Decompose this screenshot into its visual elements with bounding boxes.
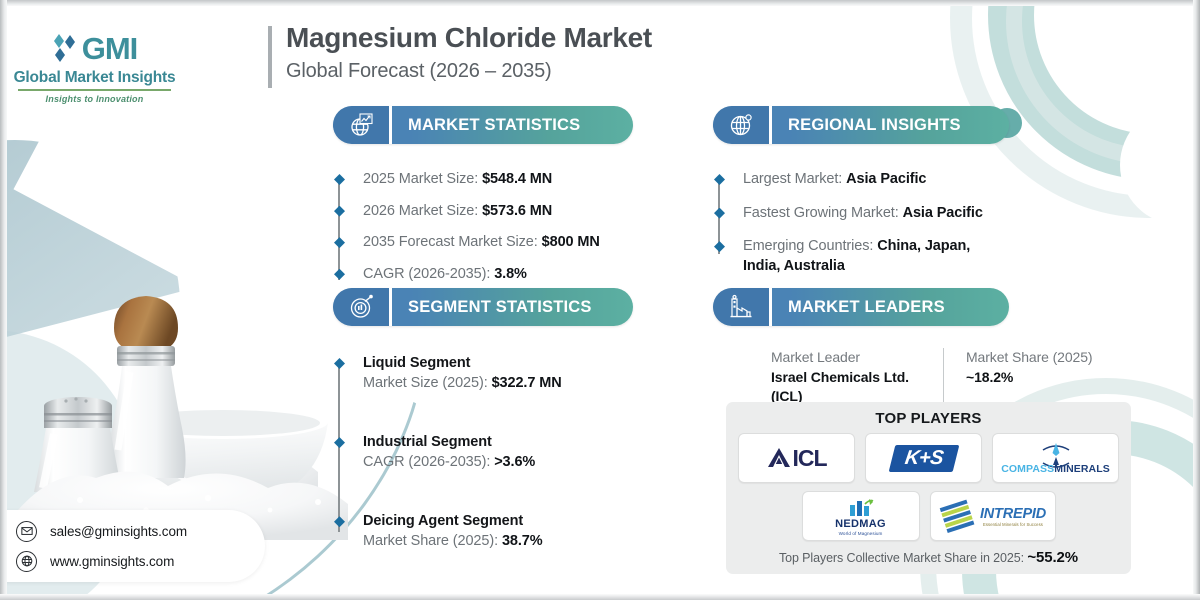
- bullet-diamond: [334, 516, 345, 527]
- logo-company-name: Global Market Insights: [12, 69, 177, 87]
- item-label: Market Size (2025):: [363, 375, 492, 391]
- segment-statistics-header: SEGMENT STATISTICS: [333, 288, 633, 326]
- frame-edge-bottom: [0, 594, 1200, 600]
- frame-edge-left: [0, 0, 7, 600]
- segment-detail-0: Market Size (2025): $322.7 MN: [363, 374, 633, 394]
- contact-email: sales@gminsights.com: [50, 524, 187, 539]
- list-item: Industrial Segment CAGR (2026-2035): >3.…: [363, 433, 633, 472]
- list-connector-line: [338, 176, 340, 280]
- bullet-diamond: [334, 437, 345, 448]
- compass-minerals-wordmark: COMPASSMINERALS: [1001, 459, 1110, 477]
- globe-icon: [16, 551, 37, 572]
- regional-item-2: Emerging Countries: China, Japan, India,…: [743, 237, 1009, 276]
- page-subtitle: Global Forecast (2026 – 2035): [286, 60, 652, 83]
- list-item: Liquid Segment Market Size (2025): $322.…: [363, 354, 633, 393]
- section-market-statistics: MARKET STATISTICS 2025 Market Size: $548…: [333, 106, 633, 296]
- logo-box-nedmag[interactable]: NEDMAG World of Magnesium: [802, 491, 920, 541]
- item-value: $800 MN: [542, 234, 600, 250]
- regional-item-0: Largest Market: Asia Pacific: [743, 170, 1009, 190]
- market-leader-col: Market Leader Israel Chemicals Ltd. (ICL…: [771, 348, 921, 407]
- globe-chart-icon: [333, 106, 389, 144]
- gmi-diamond-icon: [52, 32, 80, 64]
- list-item: Deicing Agent Segment Market Share (2025…: [363, 512, 633, 551]
- top-players-footer-value: ~55.2%: [1027, 549, 1078, 566]
- bullet-diamond: [334, 358, 345, 369]
- section-segment-statistics: SEGMENT STATISTICS Liquid Segment Market…: [333, 288, 633, 591]
- nedmag-mark-icon: [846, 497, 876, 517]
- frame-edge-top: [0, 0, 1200, 6]
- title-accent-bar: [268, 26, 272, 88]
- top-players-footer: Top Players Collective Market Share in 2…: [738, 549, 1119, 566]
- top-players-card: TOP PLAYERS ICL K+S: [726, 402, 1131, 574]
- item-value: 3.8%: [494, 266, 527, 282]
- list-item: Largest Market: Asia Pacific: [743, 170, 1009, 190]
- icl-logo-text: ICL: [792, 445, 826, 472]
- contact-panel: sales@gminsights.com www.gminsights.com: [0, 510, 265, 582]
- bullet-diamond: [334, 237, 345, 248]
- page-title-block: Magnesium Chloride Market Global Forecas…: [268, 22, 652, 83]
- logo-gmi-text: GMI: [82, 33, 138, 64]
- gmi-logo: GMI Global Market Insights Insights to I…: [12, 32, 177, 104]
- logo-underline: [18, 89, 171, 91]
- bullet-diamond: [714, 208, 725, 219]
- market-statistics-item-3: CAGR (2026-2035): 3.8%: [363, 265, 633, 285]
- logo-mark-row: GMI: [12, 32, 177, 64]
- envelope-icon: [16, 521, 37, 542]
- list-item: 2025 Market Size: $548.4 MN: [363, 170, 633, 190]
- list-item: 2026 Market Size: $573.6 MN: [363, 202, 633, 222]
- top-players-row-1: ICL K+S COMPASSMINERALS: [738, 433, 1119, 483]
- minerals-word: MINERALS: [1054, 463, 1110, 475]
- market-statistics-item-2: 2035 Forecast Market Size: $800 MN: [363, 233, 633, 253]
- regional-insights-label: REGIONAL INSIGHTS: [772, 116, 961, 135]
- regional-item-1: Fastest Growing Market: Asia Pacific: [743, 204, 1009, 224]
- globe-pin-icon: [713, 106, 769, 144]
- intrepid-mark-icon: [939, 499, 977, 533]
- infographic-canvas: GMI Global Market Insights Insights to I…: [0, 0, 1200, 600]
- list-item: Fastest Growing Market: Asia Pacific: [743, 204, 1009, 224]
- target-chart-icon: [333, 288, 389, 326]
- factory-icon: [713, 288, 769, 326]
- item-value: >3.6%: [494, 454, 535, 470]
- item-value: $548.4 MN: [482, 171, 552, 187]
- bullet-diamond: [334, 269, 345, 280]
- segment-detail-2: Market Share (2025): 38.7%: [363, 532, 633, 552]
- item-value: Asia Pacific: [903, 205, 983, 221]
- ks-logo-text: K+S: [903, 447, 944, 470]
- market-leaders-header: MARKET LEADERS: [713, 288, 1009, 326]
- regional-insights-header: REGIONAL INSIGHTS: [713, 106, 1009, 144]
- logo-tagline: Insights to Innovation: [12, 94, 177, 104]
- intrepid-logo-subtext: Essential Minerals for Success: [983, 522, 1043, 527]
- market-leader-details: Market Leader Israel Chemicals Ltd. (ICL…: [713, 348, 1009, 407]
- item-label: Fastest Growing Market:: [743, 205, 903, 221]
- segment-head-0: Liquid Segment: [363, 354, 633, 374]
- item-value: $573.6 MN: [482, 203, 552, 219]
- top-players-row-2: NEDMAG World of Magnesium INTREPID Essen…: [738, 491, 1119, 541]
- market-leader-label: Market Leader: [771, 348, 921, 368]
- market-leader-value: Israel Chemicals Ltd. (ICL): [771, 368, 921, 407]
- item-value: Asia Pacific: [846, 171, 926, 187]
- market-share-value: ~18.2%: [966, 368, 1093, 388]
- market-share-label: Market Share (2025): [966, 348, 1093, 368]
- contact-email-row[interactable]: sales@gminsights.com: [16, 521, 265, 542]
- logo-box-compass-minerals[interactable]: COMPASSMINERALS: [992, 433, 1119, 483]
- market-statistics-item-0: 2025 Market Size: $548.4 MN: [363, 170, 633, 190]
- list-item: Emerging Countries: China, Japan, India,…: [743, 237, 1009, 276]
- section-regional-insights: REGIONAL INSIGHTS Largest Market: Asia P…: [713, 106, 1009, 290]
- market-leaders-label: MARKET LEADERS: [772, 298, 945, 317]
- frame-edge-right: [1193, 0, 1200, 600]
- top-players-footer-label: Top Players Collective Market Share in 2…: [779, 551, 1027, 565]
- market-statistics-header: MARKET STATISTICS: [333, 106, 633, 144]
- logo-box-intrepid[interactable]: INTREPID Essential Minerals for Success: [930, 491, 1056, 541]
- regional-insights-list: Largest Market: Asia Pacific Fastest Gro…: [713, 170, 1009, 276]
- item-label: Largest Market:: [743, 171, 846, 187]
- item-value: 38.7%: [502, 533, 543, 549]
- nedmag-logo-subtext: World of Magnesium: [839, 531, 883, 536]
- segment-head-2: Deicing Agent Segment: [363, 512, 633, 532]
- page-title: Magnesium Chloride Market: [286, 22, 652, 54]
- market-statistics-label: MARKET STATISTICS: [392, 116, 580, 135]
- bullet-diamond: [334, 206, 345, 217]
- compass-word: COMPASS: [1001, 463, 1054, 475]
- item-label: CAGR (2026-2035):: [363, 266, 494, 282]
- segment-detail-1: CAGR (2026-2035): >3.6%: [363, 453, 633, 473]
- contact-website: www.gminsights.com: [50, 554, 174, 569]
- market-share-col: Market Share (2025) ~18.2%: [943, 348, 1093, 407]
- segment-head-1: Industrial Segment: [363, 433, 633, 453]
- item-label: 2025 Market Size:: [363, 171, 482, 187]
- bullet-diamond: [334, 174, 345, 185]
- list-item: 2035 Forecast Market Size: $800 MN: [363, 233, 633, 253]
- item-label: 2035 Forecast Market Size:: [363, 234, 542, 250]
- contact-website-row[interactable]: www.gminsights.com: [16, 551, 265, 572]
- nedmag-logo-text: NEDMAG: [835, 518, 886, 530]
- product-photo-salt: [18, 210, 348, 540]
- segment-statistics-list: Liquid Segment Market Size (2025): $322.…: [333, 354, 633, 551]
- market-statistics-list: 2025 Market Size: $548.4 MN 2026 Market …: [333, 170, 633, 284]
- item-label: Emerging Countries:: [743, 238, 877, 254]
- icl-mark-icon: [766, 445, 792, 471]
- list-item: CAGR (2026-2035): 3.8%: [363, 265, 633, 285]
- ks-logo-badge: K+S: [888, 445, 959, 472]
- item-label: CAGR (2026-2035):: [363, 454, 494, 470]
- top-players-title: TOP PLAYERS: [738, 410, 1119, 427]
- logo-box-icl[interactable]: ICL: [738, 433, 855, 483]
- intrepid-wordmark: INTREPID Essential Minerals for Success: [980, 506, 1046, 527]
- item-value: $322.7 MN: [492, 375, 562, 391]
- bullet-diamond: [714, 241, 725, 252]
- segment-statistics-label: SEGMENT STATISTICS: [392, 298, 592, 317]
- intrepid-logo-text: INTREPID: [980, 506, 1046, 522]
- logo-box-ks[interactable]: K+S: [865, 433, 982, 483]
- item-label: 2026 Market Size:: [363, 203, 482, 219]
- bullet-diamond: [714, 174, 725, 185]
- item-label: Market Share (2025):: [363, 533, 502, 549]
- section-market-leaders: MARKET LEADERS Market Leader Israel Chem…: [713, 288, 1009, 407]
- market-statistics-item-1: 2026 Market Size: $573.6 MN: [363, 202, 633, 222]
